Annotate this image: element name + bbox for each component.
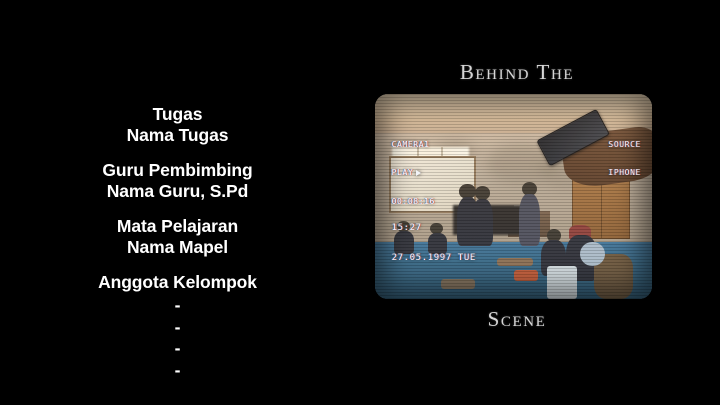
- credit-heading: Guru Pembimbing: [0, 160, 355, 181]
- osd-source-value: IPHONE: [598, 168, 641, 178]
- title-line-top: Behind The: [370, 60, 664, 85]
- floor-prop: [514, 270, 539, 280]
- osd-bottom-left: 15:27 27.05.1997 TUE: [392, 204, 476, 283]
- list-item: -: [0, 295, 355, 317]
- person-standing: [519, 194, 540, 245]
- credit-block-tugas: Tugas Nama Tugas: [0, 104, 355, 146]
- credit-value: Nama Mapel: [0, 237, 355, 258]
- slide-canvas: Tugas Nama Tugas Guru Pembimbing Nama Gu…: [0, 0, 720, 405]
- credit-value: Nama Tugas: [0, 125, 355, 146]
- osd-top-right: SOURCE IPHONE: [598, 121, 641, 197]
- white-box-prop: [547, 266, 577, 299]
- title-line-bottom: Scene: [370, 307, 664, 332]
- list-item: -: [0, 338, 355, 360]
- credit-block-mapel: Mata Pelajaran Nama Mapel: [0, 216, 355, 258]
- osd-clock: 15:27: [392, 223, 476, 234]
- osd-mode-label: PLAY: [392, 168, 414, 178]
- round-prop: [580, 242, 605, 267]
- video-panel: Behind The: [358, 0, 720, 405]
- credit-value: Nama Guru, S.Pd: [0, 181, 355, 202]
- osd-camera-label: CAMERA1: [392, 140, 435, 150]
- osd-source-label: SOURCE: [598, 140, 641, 150]
- video-thumbnail[interactable]: CAMERA1 PLAY 00:08:16 SOURCE IPHONE 15:2…: [375, 94, 652, 299]
- credit-block-anggota: Anggota Kelompok - - - -: [0, 272, 355, 381]
- list-item: -: [0, 360, 355, 382]
- credit-heading: Mata Pelajaran: [0, 216, 355, 237]
- person-head: [475, 186, 490, 199]
- credit-heading: Anggota Kelompok: [0, 272, 355, 293]
- osd-play-row: PLAY: [392, 168, 435, 178]
- member-list: - - - -: [0, 295, 355, 381]
- osd-date: 27.05.1997 TUE: [392, 253, 476, 264]
- floor-prop: [497, 258, 533, 266]
- play-icon: [416, 170, 421, 176]
- credits-column: Tugas Nama Tugas Guru Pembimbing Nama Gu…: [0, 104, 355, 395]
- list-item: -: [0, 317, 355, 339]
- credit-block-guru: Guru Pembimbing Nama Guru, S.Pd: [0, 160, 355, 202]
- credit-heading: Tugas: [0, 104, 355, 125]
